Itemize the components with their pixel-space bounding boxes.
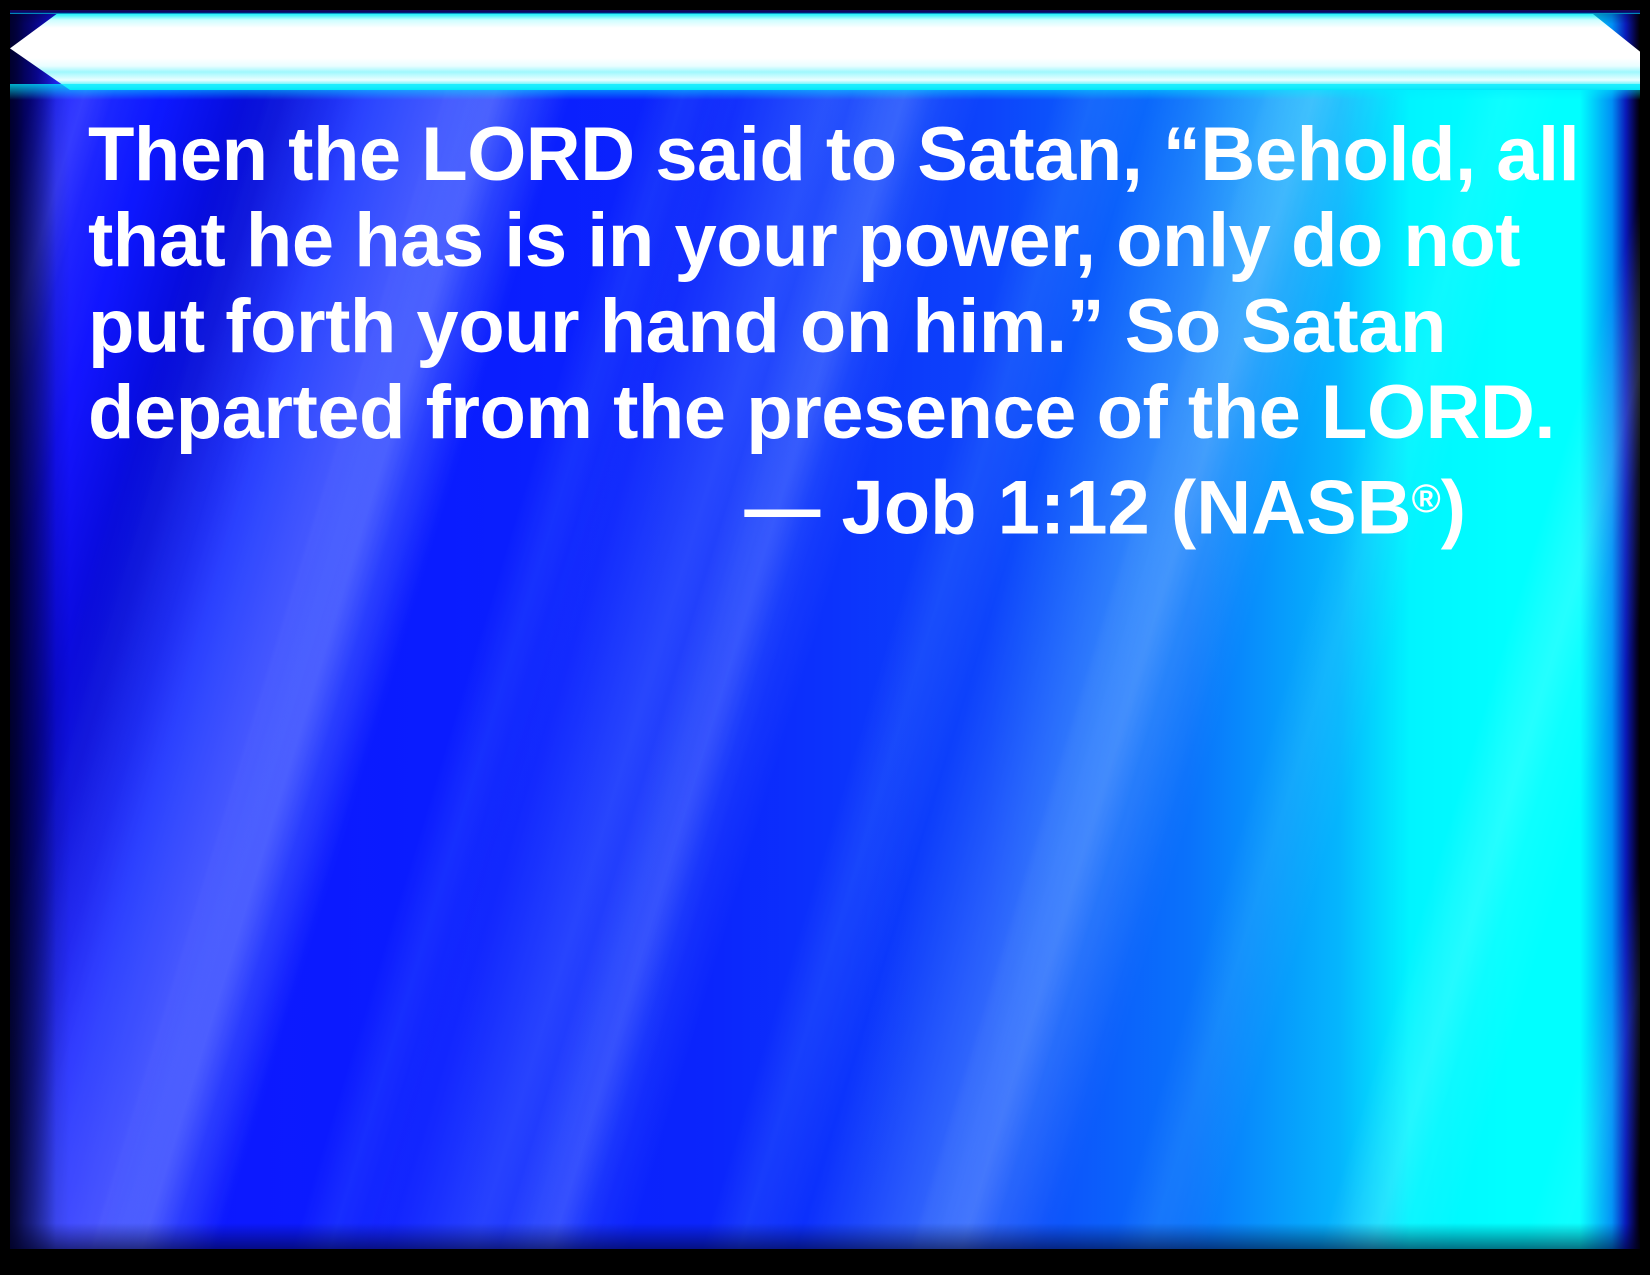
top-highlight-band xyxy=(10,10,1640,90)
attribution-em-dash: — xyxy=(744,466,820,551)
verse-text-block: Then the LORD said to Satan, “Behold, al… xyxy=(88,112,1468,552)
attribution-spacer-2 xyxy=(1150,466,1171,551)
registered-trademark-icon: ® xyxy=(1412,477,1441,521)
attribution-spacer xyxy=(820,466,841,551)
attribution-translation-close: ) xyxy=(1441,466,1466,551)
attribution-reference: Job 1:12 xyxy=(841,466,1149,551)
verse-line-2: that he has is in your power, only do no… xyxy=(88,198,1468,284)
top-band-edge-line xyxy=(10,10,1640,14)
verse-slide: Then the LORD said to Satan, “Behold, al… xyxy=(0,0,1650,1275)
verse-attribution: — Job 1:12 (NASB®) xyxy=(88,456,1468,552)
verse-line-1: Then the LORD said to Satan, “Behold, al… xyxy=(88,112,1468,198)
attribution-translation-open: (NASB xyxy=(1171,466,1412,551)
verse-line-3: put forth your hand on him.” So Satan xyxy=(88,284,1468,370)
verse-line-4: departed from the presence of the LORD. xyxy=(88,370,1468,456)
